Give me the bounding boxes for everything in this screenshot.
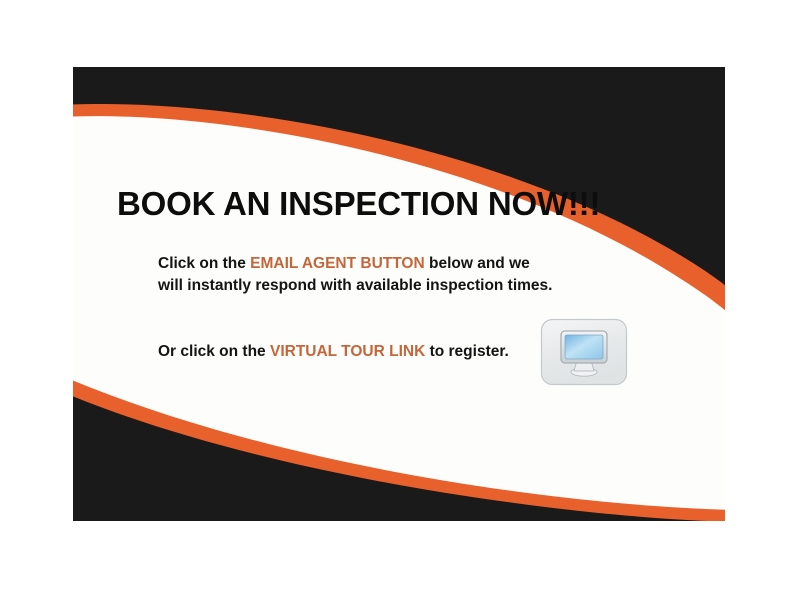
email-agent-button-highlight: EMAIL AGENT BUTTON — [250, 255, 425, 272]
virtual-tour-link-highlight: VIRTUAL TOUR LINK — [270, 343, 425, 360]
page-title: BOOK AN INSPECTION NOW!!! — [117, 185, 600, 223]
paragraph-tour-lead: Or click on the — [158, 343, 270, 360]
computer-monitor-icon[interactable] — [540, 318, 628, 386]
screenshot-canvas: BOOK AN INSPECTION NOW!!! Click on the E… — [0, 0, 800, 600]
monitor-screen — [565, 335, 603, 359]
instruction-paragraph-virtual-tour: Or click on the VIRTUAL TOUR LINK to reg… — [158, 341, 558, 363]
presentation-slide: BOOK AN INSPECTION NOW!!! Click on the E… — [73, 67, 725, 521]
paragraph-tour-tail: to register. — [425, 343, 509, 360]
instruction-paragraph-email: Click on the EMAIL AGENT BUTTON below an… — [158, 253, 558, 297]
paragraph-email-lead: Click on the — [158, 255, 250, 272]
virtual-tour-button[interactable] — [540, 318, 628, 386]
slide-content: BOOK AN INSPECTION NOW!!! Click on the E… — [73, 67, 725, 521]
